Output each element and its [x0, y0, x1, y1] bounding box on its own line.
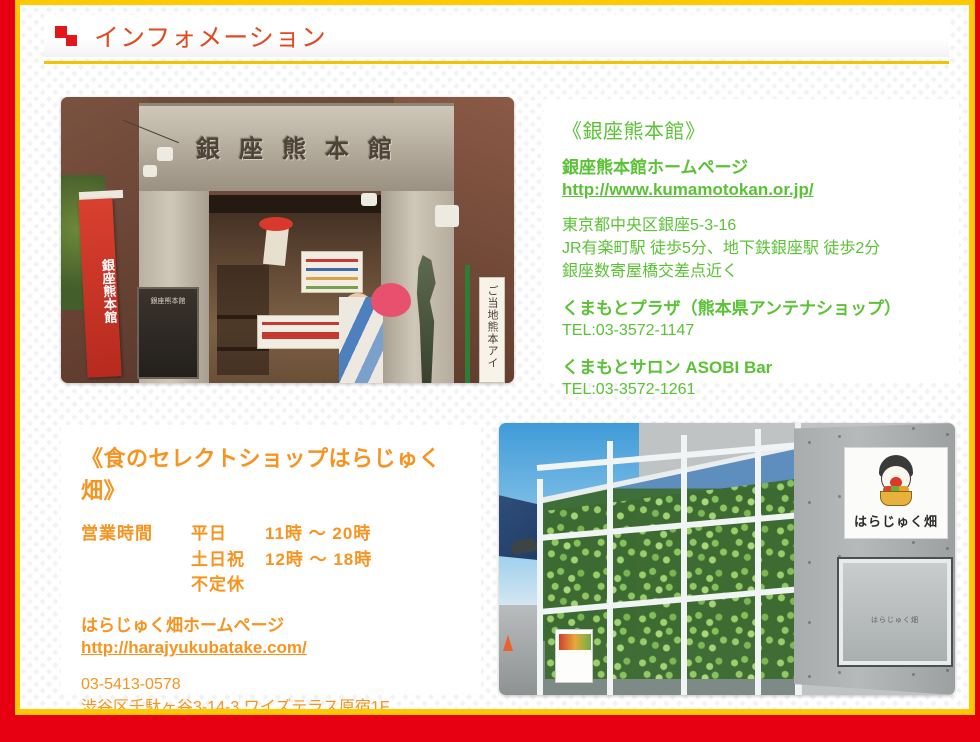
banner-text: 銀座熊本館: [80, 220, 121, 362]
kumamotokan-address-line-2: JR有楽町駅 徒歩5分、地下鉄銀座駅 徒歩2分: [562, 238, 941, 261]
red-ribbon: [259, 217, 293, 231]
plaque-text: 銀座熊本館: [139, 297, 197, 308]
asobi-bar-contact: くまもとサロン ASOBI Bar TEL:03-3572-1261: [562, 356, 941, 402]
spotlight-3: [361, 193, 377, 206]
page-title: インフォメーション: [94, 18, 327, 54]
building-name-sign: 銀 座 熊 本 館: [139, 122, 454, 170]
page-root: インフォメーション 銀 座 熊 本 館: [0, 0, 980, 742]
kumamotokan-address-line-3: 銀座数寄屋橋交差点近く: [562, 261, 941, 284]
hours-row: 営業時間 平日 11時 ～ 20時: [81, 521, 372, 547]
entrance-header: [209, 195, 381, 213]
hours-label-spacer: [81, 547, 191, 573]
kumamoto-plaza-contact: くまもとプラザ（熊本県アンテナショップ） TEL:03-3572-1147: [562, 297, 941, 343]
hours-time-1: 12時 ～ 18時: [265, 547, 372, 573]
window-mullion-v3: [755, 429, 761, 695]
kumamotokan-homepage-link[interactable]: http://www.kumamotokan.or.jp/: [562, 179, 814, 202]
logo-sign-text: はらじゅく畑: [845, 511, 947, 530]
kumamotokan-address-line-1: 東京都中央区銀座5-3-16: [562, 215, 941, 238]
harajuku-business-hours: 営業時間 平日 11時 ～ 20時 土日祝 12時 ～ 18時 不定休: [81, 521, 372, 598]
kumamotokan-heading: 《銀座熊本館》: [562, 115, 941, 144]
hours-day-0: 平日: [191, 521, 265, 547]
kumamotokan-homepage-label: 銀座熊本館ホームページ: [562, 156, 941, 179]
window-poster: [555, 629, 593, 683]
spotlight-1: [157, 147, 173, 161]
harajuku-homepage-block: はらじゅく畑ホームページ http://harajyukubatake.com/: [81, 614, 461, 661]
sign-char-2: 座: [239, 129, 268, 164]
mascot-basket: [880, 491, 912, 506]
pink-speech-badge: [371, 283, 411, 317]
harajuku-contact-block: 03-5413-0578 渋谷区千駄ヶ谷3-14-3 ワイズテラス原宿1F 地下…: [81, 673, 461, 709]
kumamotokan-homepage-block: 銀座熊本館ホームページ http://www.kumamotokan.or.jp…: [562, 156, 941, 202]
ginza-kumamotokan-storefront-photo: 銀 座 熊 本 館: [61, 97, 514, 383]
hours-day-1: 土日祝: [191, 547, 265, 573]
green-pole: [465, 265, 470, 383]
hours-day-2: 不定休: [191, 572, 265, 598]
interior-poster-upper: [301, 251, 363, 293]
right-sign-text: ご当地熊本アイ: [484, 285, 500, 369]
kumamoto-plaza-tel: TEL:03-3572-1147: [562, 320, 941, 343]
kumamotokan-address-block: 東京都中央区銀座5-3-16 JR有楽町駅 徒歩5分、地下鉄銀座駅 徒歩2分 銀…: [562, 215, 941, 283]
sign-char-3: 熊: [282, 129, 311, 164]
sign-char-4: 本: [325, 129, 354, 164]
hours-label: 営業時間: [81, 521, 191, 547]
kumamoto-plaza-name: くまもとプラザ（熊本県アンテナショップ）: [562, 297, 941, 320]
ginza-kumamotokan-info-panel: 《銀座熊本館》 銀座熊本館ホームページ http://www.kumamotok…: [544, 99, 959, 383]
lower-window-label: はらじゅく畑: [843, 615, 947, 625]
hours-label-spacer: [81, 572, 191, 598]
window-mullion-v2: [681, 435, 687, 695]
hours-time-0: 11時 ～ 20時: [265, 521, 372, 547]
hours-time-2: [265, 572, 372, 598]
sign-char-5: 館: [368, 129, 397, 164]
page-header: インフォメーション: [44, 15, 949, 57]
interior-poster-lower: [257, 315, 349, 349]
spotlight-2: [143, 165, 157, 177]
storefront-scene: 銀 座 熊 本 館: [61, 97, 514, 383]
right-vertical-sign: ご当地熊本アイ: [479, 277, 505, 383]
red-squares-icon: [55, 24, 81, 48]
storefront-scene: はらじゅく畑 はらじゅく畑: [499, 423, 955, 695]
asobi-bar-name: くまもとサロン ASOBI Bar: [562, 356, 941, 379]
wall-speaker: [435, 205, 459, 227]
hours-row: 不定休: [81, 572, 372, 598]
harajuku-homepage-label: はらじゅく畑ホームページ: [81, 614, 461, 638]
red-square-lower: [66, 35, 77, 46]
sign-char-1: 銀: [196, 129, 225, 164]
harajuku-heading: 《食のセレクトショップはらじゅく畑》: [81, 441, 461, 505]
window-mullion-v0: [537, 479, 543, 695]
header-divider: [44, 61, 949, 64]
harajuku-batake-info-panel: 《食のセレクトショップはらじゅく畑》 営業時間 平日 11時 ～ 20時 土日祝…: [61, 425, 481, 693]
harajuku-batake-logo-sign: はらじゅく畑: [844, 447, 948, 539]
asobi-bar-tel: TEL:03-3572-1261: [562, 379, 941, 402]
harajuku-batake-storefront-photo: はらじゅく畑 はらじゅく畑: [499, 423, 955, 695]
gold-frame: インフォメーション 銀 座 熊 本 館: [15, 0, 975, 715]
harajuku-homepage-link[interactable]: http://harajyukubatake.com/: [81, 637, 307, 660]
lower-display-window: はらじゅく畑: [839, 559, 951, 665]
harajuku-address-line-1: 渋谷区千駄ヶ谷3-14-3 ワイズテラス原宿1F: [81, 696, 461, 709]
window-mullion-v1: [607, 441, 613, 695]
mascot-character-icon: [871, 455, 921, 507]
entrance-plaque: 銀座熊本館: [137, 287, 199, 379]
hours-row: 土日祝 12時 ～ 18時: [81, 547, 372, 573]
harajuku-tel: 03-5413-0578: [81, 673, 461, 696]
content-canvas: インフォメーション 銀 座 熊 本 館: [20, 5, 969, 709]
stone-lintel: 銀 座 熊 本 館: [139, 103, 454, 191]
